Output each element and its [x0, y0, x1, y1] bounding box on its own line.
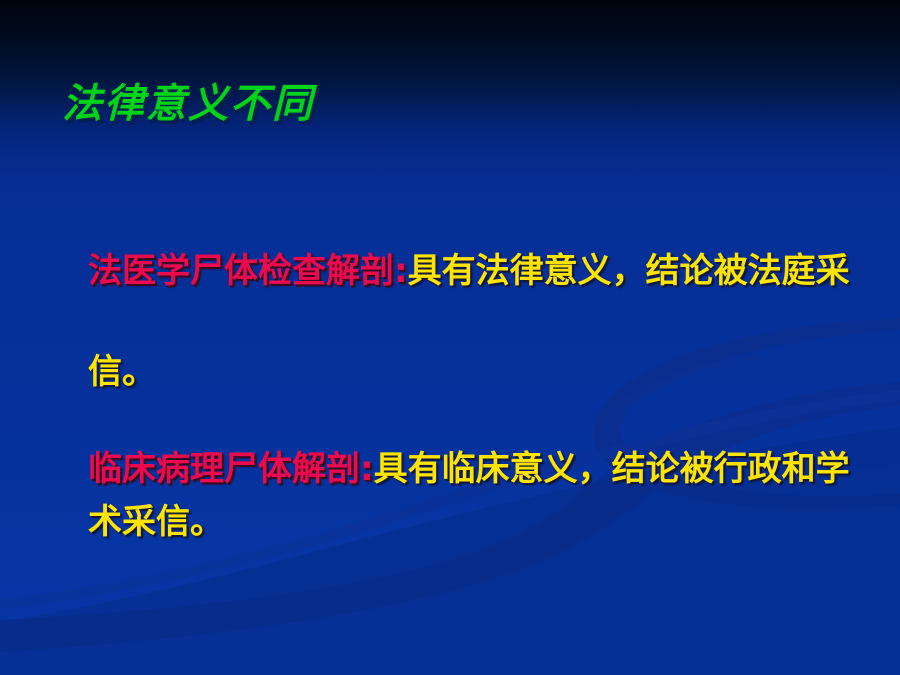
page-title: 法律意义不同 — [62, 84, 314, 124]
separator-colon-1: : — [394, 251, 408, 291]
term-forensic-autopsy: 法医学尸体检查解剖 — [88, 251, 394, 291]
slide-canvas: 法律意义不同 法医学尸体检查解剖:具有法律意义，结论被法庭采信。 临床病理尸体解… — [0, 0, 900, 675]
term-clinical-autopsy: 临床病理尸体解剖 — [88, 449, 360, 489]
paragraph-forensic-autopsy: 法医学尸体检查解剖:具有法律意义，结论被法庭采信。 — [88, 221, 878, 423]
paragraph-clinical-autopsy: 临床病理尸体解剖:具有临床意义，结论被行政和学术采信。 — [88, 443, 878, 549]
separator-colon-2: : — [360, 449, 374, 489]
